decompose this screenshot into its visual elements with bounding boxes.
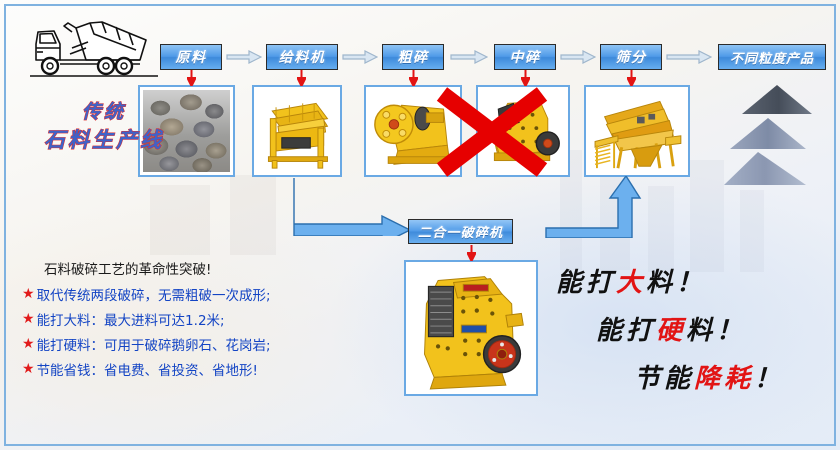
watermark-shape: [150, 185, 210, 255]
benefit-item: ★ 能打大料：最大进料可达1.2米;: [22, 309, 271, 329]
benefit-item: ★ 能打硬料：可用于破碎鹅卵石、花岗岩;: [22, 334, 271, 354]
flow-label-medium-crushing[interactable]: 中碎: [494, 44, 556, 70]
two-in-one-crusher-image: [409, 265, 533, 391]
photo-jaw-crusher: [364, 85, 462, 177]
flow-label-raw-material[interactable]: 原料: [160, 44, 222, 70]
red-down-arrow-icon: [297, 70, 306, 86]
caption-line-1: 传统: [34, 100, 174, 126]
photo-feeder-machine: [252, 85, 342, 177]
gray-right-arrow-icon: [226, 50, 262, 64]
slogan-pre: 能打: [596, 316, 656, 346]
slogan-pre: 能打: [556, 268, 616, 298]
photo-impact-crusher: [476, 85, 570, 177]
slogan-post: 料！: [686, 316, 746, 346]
flow-label-graded-products[interactable]: 不同粒度产品: [718, 44, 826, 70]
flow-label-feeder[interactable]: 给料机: [266, 44, 338, 70]
flow-label-text: 粗碎: [398, 47, 429, 67]
benefits-list: 石料破碎工艺的革命性突破! ★ 取代传统两段破碎，无需粗破一次成形; ★ 能打大…: [22, 258, 271, 384]
benefit-item: ★ 节能省钱：省电费、省投资、省地形!: [22, 359, 271, 379]
benefit-text: 取代传统两段破碎，无需粗破一次成形;: [37, 284, 271, 304]
two-in-one-crusher-label[interactable]: 二合一破碎机: [408, 219, 513, 244]
slogan-big-material: 能打大料！: [556, 262, 706, 299]
red-down-arrow-icon: [521, 70, 530, 86]
product-pile-coarse: [742, 85, 812, 119]
photo-vibrating-screen: [584, 85, 690, 177]
star-icon: ★: [22, 312, 35, 326]
slogan-highlight: 大: [616, 268, 646, 298]
slogan-post: 料！: [646, 268, 706, 298]
two-in-one-crusher-text: 二合一破碎机: [418, 222, 503, 241]
benefit-text: 能打大料：最大进料可达1.2米;: [37, 309, 225, 329]
star-icon: ★: [22, 337, 35, 351]
slogan-energy-saving: 节能降耗！: [634, 358, 784, 395]
gray-right-arrow-icon: [666, 50, 712, 64]
photo-two-in-one-crusher: [404, 260, 538, 396]
red-down-arrow-icon: [627, 70, 636, 86]
slogan-pre: 节能: [634, 364, 694, 394]
red-down-arrow-icon: [187, 70, 196, 86]
flow-label-screening[interactable]: 筛分: [600, 44, 662, 70]
flow-label-text: 中碎: [510, 47, 541, 67]
slogan-highlight: 硬: [656, 316, 686, 346]
watermark-shape: [690, 160, 724, 272]
watermark-shape: [648, 186, 674, 272]
product-pile-fine: [724, 152, 806, 190]
star-icon: ★: [22, 362, 35, 376]
infographic-poster: 传统 石料生产线 原料 给料机 粗碎 中碎 筛分 不同粒度产品: [0, 0, 840, 450]
slogan-hard-material: 能打硬料！: [596, 310, 746, 347]
slogan-post: ！: [754, 364, 784, 394]
bypass-arrow-outbound: [530, 176, 648, 238]
caption-line-2: 石料生产线: [34, 126, 174, 154]
impact-crusher-image: [481, 90, 565, 172]
benefit-item: ★ 取代传统两段破碎，无需粗破一次成形;: [22, 284, 271, 304]
slogan-highlight: 降耗: [694, 364, 754, 394]
red-down-arrow-icon: [467, 245, 476, 261]
benefits-heading: 石料破碎工艺的革命性突破!: [44, 258, 271, 278]
dump-truck-icon: [28, 14, 160, 82]
watermark-shape: [740, 190, 764, 272]
vibrating-feeder-image: [257, 90, 337, 172]
product-pile-medium: [730, 118, 806, 154]
flow-label-text: 筛分: [616, 47, 647, 67]
vibrating-screen-image: [589, 90, 685, 172]
benefit-text: 节能省钱：省电费、省投资、省地形!: [37, 359, 258, 379]
flow-label-text: 不同粒度产品: [730, 48, 814, 67]
jaw-crusher-image: [369, 90, 457, 172]
benefit-text: 能打硬料：可用于破碎鹅卵石、花岗岩;: [37, 334, 271, 354]
flow-label-text: 给料机: [279, 47, 326, 67]
watermark-shape: [230, 175, 276, 255]
flow-label-coarse-crushing[interactable]: 粗碎: [382, 44, 444, 70]
gray-right-arrow-icon: [560, 50, 596, 64]
traditional-line-caption: 传统 石料生产线: [34, 100, 174, 154]
flow-label-text: 原料: [176, 47, 207, 67]
gray-right-arrow-icon: [342, 50, 378, 64]
star-icon: ★: [22, 287, 35, 301]
bypass-arrow-inbound: [290, 176, 414, 236]
gray-right-arrow-icon: [450, 50, 488, 64]
red-down-arrow-icon: [409, 70, 418, 86]
